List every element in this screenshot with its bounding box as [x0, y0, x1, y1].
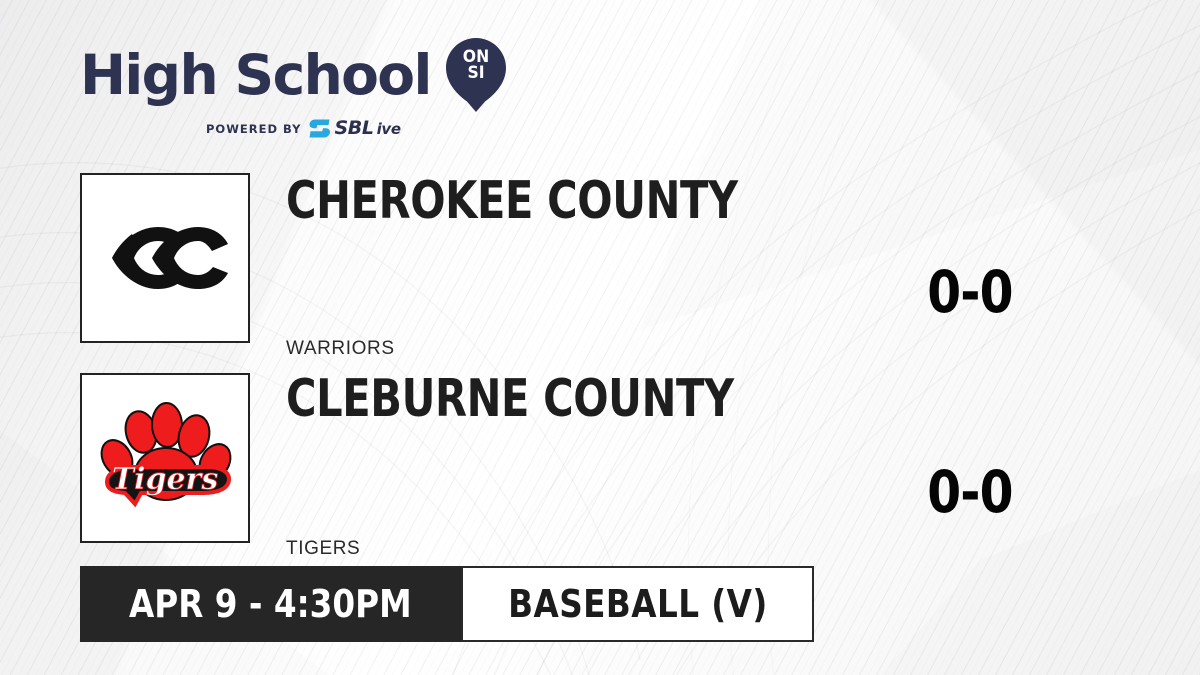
game-datetime-box: APR 9 - 4:30PM	[80, 566, 461, 642]
game-sport-box: BASEBALL (V)	[461, 566, 815, 642]
team-mascot-tigers: TIGERS	[286, 538, 360, 560]
pin-line-si: SI	[447, 65, 504, 81]
team-record-cleburne-county: 0-0	[878, 463, 1063, 521]
brand-logo-row: High School ON SI	[80, 38, 720, 112]
sblive-lightning-icon	[309, 119, 331, 138]
brand-wordmark: High School	[80, 48, 431, 103]
team-logo-cleburne-county: Tigers	[80, 373, 250, 543]
on-si-pin-icon: ON SI	[445, 38, 507, 112]
brand-header: High School ON SI POWERED BY SBL ive	[80, 38, 720, 138]
game-sport-text: BASEBALL (V)	[508, 585, 768, 623]
sblive-logo: SBL ive	[309, 119, 400, 138]
game-datetime-text: APR 9 - 4:30PM	[129, 585, 412, 623]
tigers-script-text: Tigers	[112, 462, 219, 497]
game-info-banner: APR 9 - 4:30PM BASEBALL (V)	[80, 566, 814, 642]
on-si-pin-text: ON SI	[445, 49, 507, 81]
team-record-cherokee-county: 0-0	[878, 263, 1063, 321]
team-logo-cherokee-county	[80, 173, 250, 343]
powered-by-row: POWERED BY SBL ive	[80, 119, 720, 138]
powered-by-label: POWERED BY	[206, 122, 301, 136]
sblive-name-tail: ive	[377, 122, 401, 137]
cc-monogram-icon	[100, 203, 230, 313]
matchup-graphic: High School ON SI POWERED BY SBL ive	[0, 0, 1200, 675]
tigers-paw-icon: Tigers	[95, 394, 235, 522]
team-name-cherokee-county: CHEROKEE COUNTY	[286, 175, 738, 227]
team-mascot-warriors: WARRIORS	[286, 338, 395, 360]
sblive-name-bold: SBL	[334, 119, 373, 138]
team-name-cleburne-county: CLEBURNE COUNTY	[286, 373, 734, 425]
